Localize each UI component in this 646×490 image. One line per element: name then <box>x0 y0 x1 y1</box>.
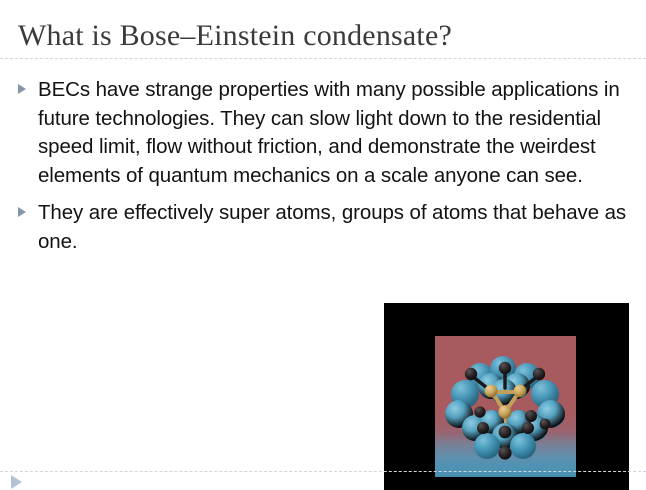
molecule-picture-panel <box>435 336 576 477</box>
title-divider <box>0 58 646 59</box>
list-item: BECs have strange properties with many p… <box>8 76 638 190</box>
molecule-picture <box>384 303 629 490</box>
list-item-text: BECs have strange properties with many p… <box>38 76 638 190</box>
page-title: What is Bose–Einstein condensate? <box>18 17 628 55</box>
slide-body: BECs have strange properties with many p… <box>8 76 638 265</box>
next-slide-triangle-icon[interactable] <box>11 475 22 489</box>
triangle-bullet-icon <box>18 84 26 94</box>
molecule-diagram-icon <box>435 336 576 477</box>
list-item: They are effectively super atoms, groups… <box>8 199 638 256</box>
footer-divider <box>0 471 646 472</box>
list-item-text: They are effectively super atoms, groups… <box>38 199 646 256</box>
slide-canvas: What is Bose–Einstein condensate? BECs h… <box>0 0 646 490</box>
triangle-bullet-icon <box>18 207 26 217</box>
